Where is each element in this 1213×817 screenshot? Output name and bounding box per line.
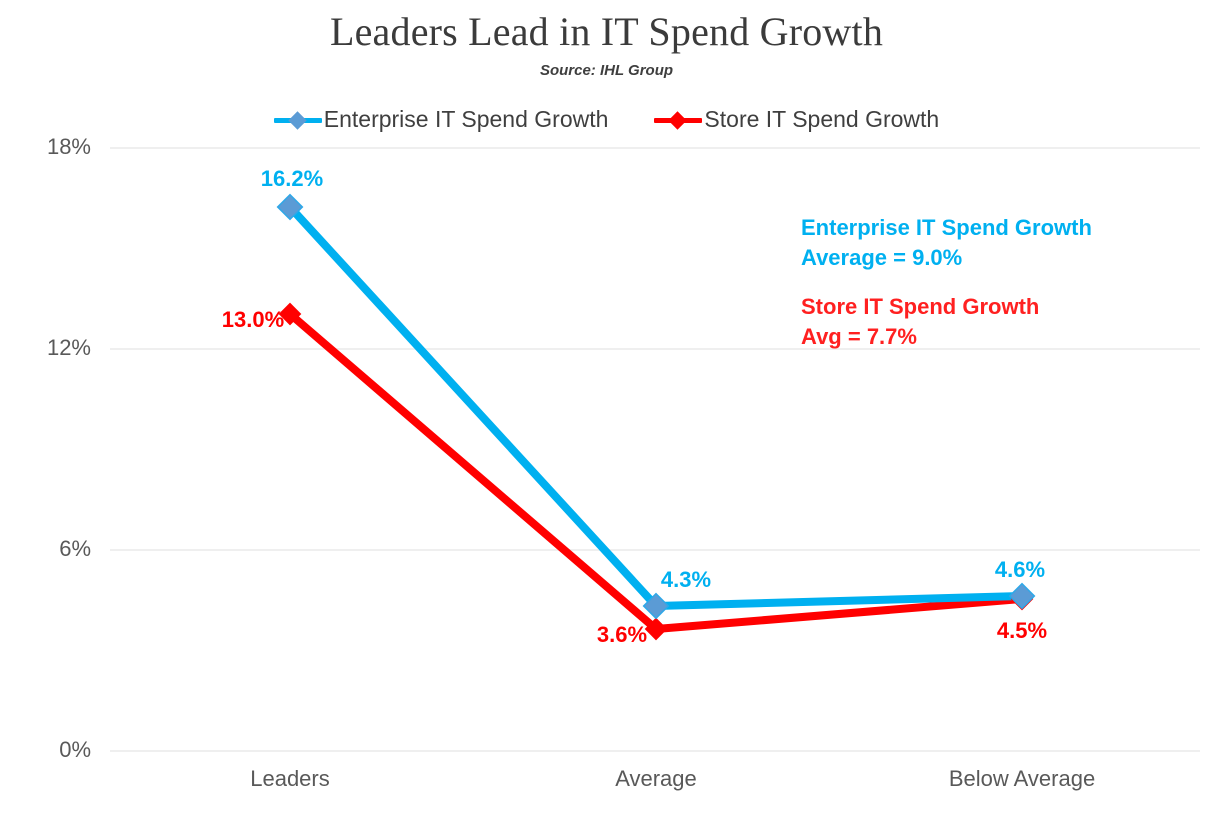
legend-marker-diamond-icon bbox=[274, 110, 322, 130]
legend-item-store[interactable]: Store IT Spend Growth bbox=[654, 106, 939, 133]
chart-title: Leaders Lead in IT Spend Growth bbox=[0, 8, 1213, 55]
legend-item-enterprise[interactable]: Enterprise IT Spend Growth bbox=[274, 106, 609, 133]
data-label-enterprise-average: 4.3% bbox=[661, 567, 711, 593]
data-point-enterprise-below-average[interactable] bbox=[1011, 585, 1034, 608]
y-axis-tick-12: 12% bbox=[1, 335, 91, 361]
data-point-store-average[interactable] bbox=[645, 618, 668, 641]
data-label-enterprise-below-average: 4.6% bbox=[995, 557, 1045, 583]
legend-label-store: Store IT Spend Growth bbox=[704, 106, 939, 133]
y-axis-tick-0: 0% bbox=[1, 737, 91, 763]
data-label-store-leaders: 13.0% bbox=[222, 307, 284, 333]
x-axis-tick-below-average: Below Average bbox=[892, 766, 1152, 792]
data-point-enterprise-leaders[interactable] bbox=[279, 196, 302, 219]
x-axis-tick-leaders: Leaders bbox=[160, 766, 420, 792]
data-label-enterprise-leaders: 16.2% bbox=[261, 166, 323, 192]
chart-container: Leaders Lead in IT Spend Growth Source: … bbox=[0, 0, 1213, 817]
chart-subtitle-source: Source: IHL Group bbox=[0, 62, 1213, 79]
annotation-store-line1: Store IT Spend Growth bbox=[801, 294, 1039, 319]
annotation-store-average: Store IT Spend GrowthAvg = 7.7% bbox=[801, 292, 1039, 352]
data-label-store-below-average: 4.5% bbox=[997, 618, 1047, 644]
series-line-store bbox=[290, 314, 1022, 629]
gridline-18 bbox=[110, 147, 1200, 149]
data-point-enterprise-average[interactable] bbox=[645, 595, 668, 618]
y-axis-tick-6: 6% bbox=[1, 536, 91, 562]
legend-marker-diamond-icon bbox=[654, 110, 702, 130]
legend-label-enterprise: Enterprise IT Spend Growth bbox=[324, 106, 609, 133]
annotation-enterprise-average: Enterprise IT Spend GrowthAverage = 9.0% bbox=[801, 213, 1092, 273]
annotation-enterprise-line2: Average = 9.0% bbox=[801, 245, 962, 270]
data-label-store-average: 3.6% bbox=[597, 622, 647, 648]
gridline-6 bbox=[110, 549, 1200, 551]
y-axis-tick-18: 18% bbox=[1, 134, 91, 160]
x-axis-tick-average: Average bbox=[526, 766, 786, 792]
chart-legend: Enterprise IT Spend Growth Store IT Spen… bbox=[0, 106, 1213, 133]
data-point-store-below-average[interactable] bbox=[1011, 588, 1034, 611]
gridline-0 bbox=[110, 750, 1200, 752]
annotation-store-line2: Avg = 7.7% bbox=[801, 324, 917, 349]
annotation-enterprise-line1: Enterprise IT Spend Growth bbox=[801, 215, 1092, 240]
data-point-store-leaders[interactable] bbox=[279, 303, 302, 326]
